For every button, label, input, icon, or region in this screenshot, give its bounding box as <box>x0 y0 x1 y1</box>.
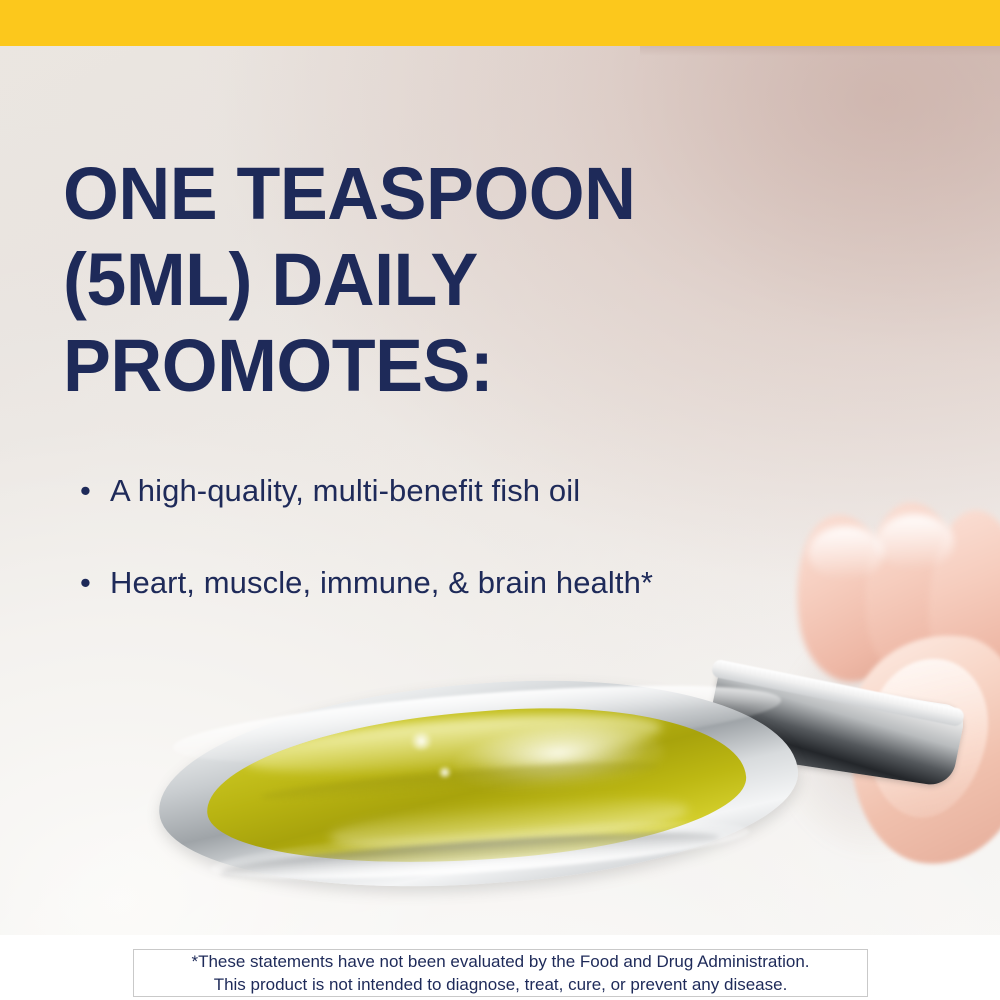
disclaimer-footer: *These statements have not been evaluate… <box>0 935 1000 1000</box>
brand-accent-bar <box>0 0 1000 46</box>
photo-background: ONE TEASPOON (5ML) DAILY PROMOTES: • A h… <box>0 46 1000 935</box>
disclaimer-line-2: This product is not intended to diagnose… <box>214 973 788 996</box>
page-title: ONE TEASPOON (5ML) DAILY PROMOTES: <box>63 151 761 409</box>
benefits-list: • A high-quality, multi-benefit fish oil… <box>80 471 870 655</box>
disclaimer-line-1: *These statements have not been evaluate… <box>191 950 809 973</box>
bullet-dot-icon: • <box>80 563 110 603</box>
disclaimer-box: *These statements have not been evaluate… <box>133 949 868 997</box>
list-item: • A high-quality, multi-benefit fish oil <box>80 471 870 511</box>
teaspoon-with-oil <box>150 636 890 896</box>
product-infographic: ONE TEASPOON (5ML) DAILY PROMOTES: • A h… <box>0 0 1000 1000</box>
finger-highlight <box>876 514 954 570</box>
list-item: • Heart, muscle, immune, & brain health* <box>80 563 870 603</box>
list-item-label: A high-quality, multi-benefit fish oil <box>110 471 870 511</box>
bullet-dot-icon: • <box>80 471 110 511</box>
finger-highlight <box>808 526 884 580</box>
list-item-label: Heart, muscle, immune, & brain health* <box>110 563 870 603</box>
background-wall-seam <box>640 46 1000 56</box>
